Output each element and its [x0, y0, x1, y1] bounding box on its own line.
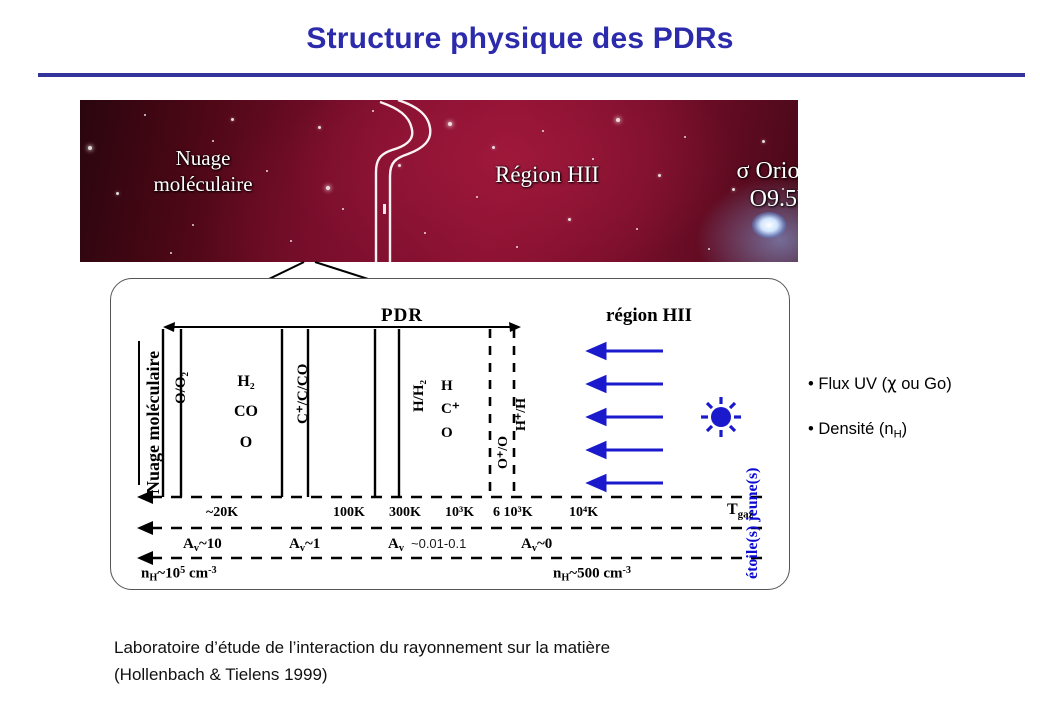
nebula-photo: Nuage moléculaire Région HII σ Orionis O…	[80, 100, 798, 262]
species-cplus: C⁺	[441, 398, 471, 421]
temp-value-20k: ~20K	[206, 505, 238, 521]
species-co: CO	[226, 397, 266, 427]
temp-value-100k: 100K	[333, 505, 365, 521]
slide-caption: Laboratoire d’étude de l’interaction du …	[114, 634, 610, 688]
title-divider	[38, 73, 1025, 77]
diagram-header-hii: région HII	[606, 305, 692, 327]
extinction-annotation: ~0.01-0.1	[408, 535, 469, 552]
diagram-axis-molecular-cloud: Nuage moléculaire	[143, 351, 164, 494]
temp-axis-subscript: gaz	[738, 508, 754, 520]
extinction-av-10: Av~10	[183, 536, 222, 554]
extinction-av-0: Av~0	[521, 536, 552, 554]
species-h: H	[441, 375, 471, 398]
zone-label-cplus-c-co: C⁺/C/CO	[293, 364, 312, 424]
temp-value-1e4k: 10⁴K	[569, 505, 598, 521]
zone-label-oplus-o: O⁺/O	[495, 436, 512, 469]
photo-label-hii-region: Région HII	[495, 162, 599, 188]
density-right: nH~500 cm-3	[553, 565, 631, 583]
page-title: Structure physique des PDRs	[0, 22, 1040, 56]
bullet-flux-uv: • Flux UV (χ ou Go)	[808, 374, 1038, 394]
extinction-av-mid: Av	[388, 536, 404, 554]
photo-label-sigma-orionis: σ Orionis O9.5V	[692, 158, 798, 213]
species-h2: H₂	[226, 367, 266, 397]
zone-label-o-o2: O/O₂	[173, 372, 190, 404]
temp-value-1e3k: 10³K	[445, 505, 474, 521]
temp-value-6e3k: 6 10³K	[493, 505, 533, 521]
pdr-structure-diagram: PDR région HII Nuage moléculaire O/O₂ C⁺…	[110, 278, 790, 590]
temp-axis-name: Tgaz	[727, 501, 753, 520]
temp-axis-symbol: T	[727, 501, 738, 518]
species-o-warm: O	[441, 422, 471, 445]
species-o: O	[226, 428, 266, 458]
density-left: nH~105 cm-3	[141, 565, 217, 583]
extinction-av-1: Av~1	[289, 536, 320, 554]
photo-label-molecular-cloud: Nuage moléculaire	[108, 145, 298, 198]
young-star-label: étoile(s) jeune(s)	[744, 467, 762, 579]
zone-label-hplus-h: H⁺/H	[513, 398, 530, 431]
temp-value-300k: 300K	[389, 505, 421, 521]
parameter-bullet-list: • Flux UV (χ ou Go) • Densité (nH)	[808, 374, 1038, 466]
zone-label-h-h2: H/H₂	[411, 380, 428, 412]
species-group-warm: H C⁺ O	[441, 375, 471, 445]
bullet-densite: • Densité (nH)	[808, 420, 1038, 440]
diagram-header-pdr: PDR	[381, 305, 423, 327]
species-group-cold: H₂ CO O	[226, 367, 266, 458]
